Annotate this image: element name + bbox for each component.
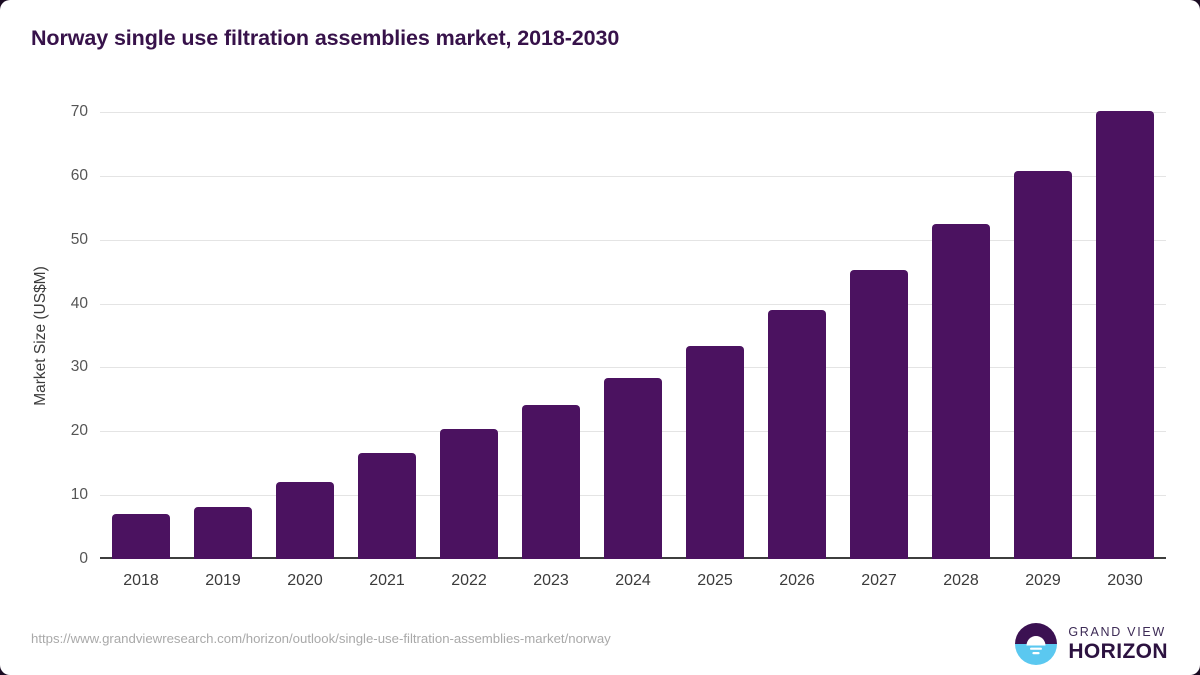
x-axis-tick-label: 2024 xyxy=(615,572,651,590)
y-axis-tick-label: 20 xyxy=(71,422,88,440)
bar[interactable] xyxy=(112,514,170,559)
x-axis-tick-label: 2025 xyxy=(697,572,733,590)
page-title: Norway single use filtration assemblies … xyxy=(31,26,619,51)
y-axis-tick-labels: 010203040506070 xyxy=(0,0,100,675)
bar[interactable] xyxy=(850,270,908,559)
bar[interactable] xyxy=(932,224,990,559)
x-axis-tick-label: 2023 xyxy=(533,572,569,590)
y-axis-tick-label: 70 xyxy=(71,103,88,121)
bar[interactable] xyxy=(358,453,416,559)
bar-series xyxy=(100,112,1166,559)
x-axis-tick-labels: 2018201920202021202220232024202520262027… xyxy=(100,572,1166,596)
x-axis-tick-label: 2026 xyxy=(779,572,815,590)
y-axis-tick-label: 30 xyxy=(71,358,88,376)
bar[interactable] xyxy=(1014,171,1072,559)
x-axis-tick-label: 2030 xyxy=(1107,572,1143,590)
x-axis-tick-label: 2027 xyxy=(861,572,897,590)
y-axis-tick-label: 40 xyxy=(71,295,88,313)
page-corner-mask-top-left xyxy=(0,0,14,14)
x-axis-tick-label: 2021 xyxy=(369,572,405,590)
brand-logo-line1: GRAND VIEW xyxy=(1068,626,1168,639)
bar[interactable] xyxy=(604,378,662,559)
y-axis-tick-label: 10 xyxy=(71,486,88,504)
brand-logo-line2: HORIZON xyxy=(1068,641,1168,662)
bar[interactable] xyxy=(686,346,744,559)
x-axis-tick-label: 2020 xyxy=(287,572,323,590)
x-axis-tick-label: 2018 xyxy=(123,572,159,590)
bar[interactable] xyxy=(522,405,580,559)
x-axis-tick-label: 2028 xyxy=(943,572,979,590)
brand-logo-text: GRAND VIEW HORIZON xyxy=(1068,626,1168,663)
x-axis-tick-label: 2022 xyxy=(451,572,487,590)
y-axis-tick-label: 0 xyxy=(79,550,88,568)
bar[interactable] xyxy=(768,310,826,559)
horizon-sun-logo-icon xyxy=(1014,622,1058,666)
bar[interactable] xyxy=(440,429,498,559)
bar[interactable] xyxy=(276,482,334,559)
brand-logo: GRAND VIEW HORIZON xyxy=(1014,622,1168,666)
y-axis-tick-label: 50 xyxy=(71,231,88,249)
y-axis-tick-label: 60 xyxy=(71,167,88,185)
x-axis-tick-label: 2029 xyxy=(1025,572,1061,590)
bar[interactable] xyxy=(1096,111,1154,559)
chart-page: Norway single use filtration assemblies … xyxy=(0,0,1200,675)
x-axis-tick-label: 2019 xyxy=(205,572,241,590)
bar[interactable] xyxy=(194,507,252,559)
source-url[interactable]: https://www.grandviewresearch.com/horizo… xyxy=(31,631,611,646)
